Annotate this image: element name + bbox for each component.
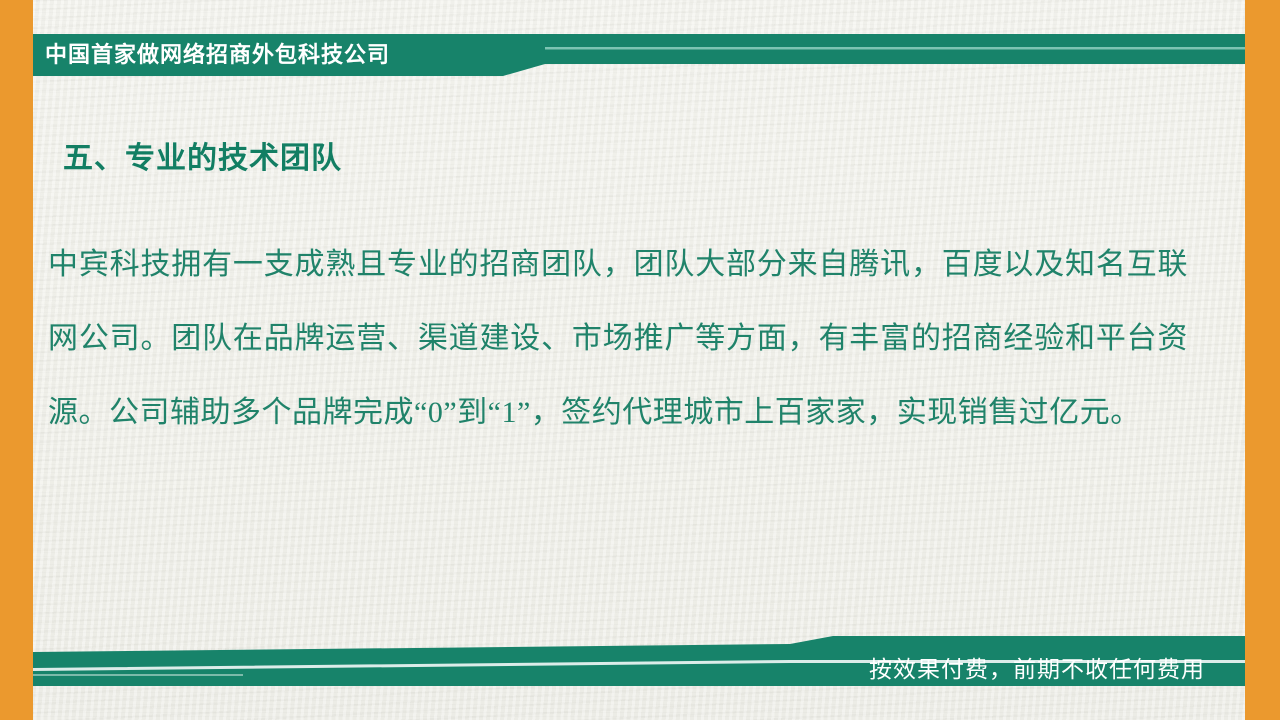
presentation-slide: 中国首家做网络招商外包科技公司 五、专业的技术团队 中宾科技拥有一支成熟且专业的… — [0, 0, 1280, 720]
body-text-block: 中宾科技拥有一支成熟且专业的招商团队，团队大部分来自腾讯，百度以及知名互联网公司… — [48, 228, 1188, 450]
footer-accent-dash — [33, 674, 243, 676]
section-title: 五、专业的技术团队 — [63, 133, 342, 177]
header-title: 中国首家做网络招商外包科技公司 — [45, 34, 390, 76]
footer-tagline: 按效果付费，前期不收任何费用 — [869, 650, 1205, 684]
slide-header: 中国首家做网络招商外包科技公司 — [33, 34, 1245, 76]
header-accent-line — [545, 47, 1245, 50]
slide-footer: 按效果付费，前期不收任何费用 — [33, 630, 1245, 690]
body-paragraph: 中宾科技拥有一支成熟且专业的招商团队，团队大部分来自腾讯，百度以及知名互联网公司… — [48, 228, 1188, 450]
